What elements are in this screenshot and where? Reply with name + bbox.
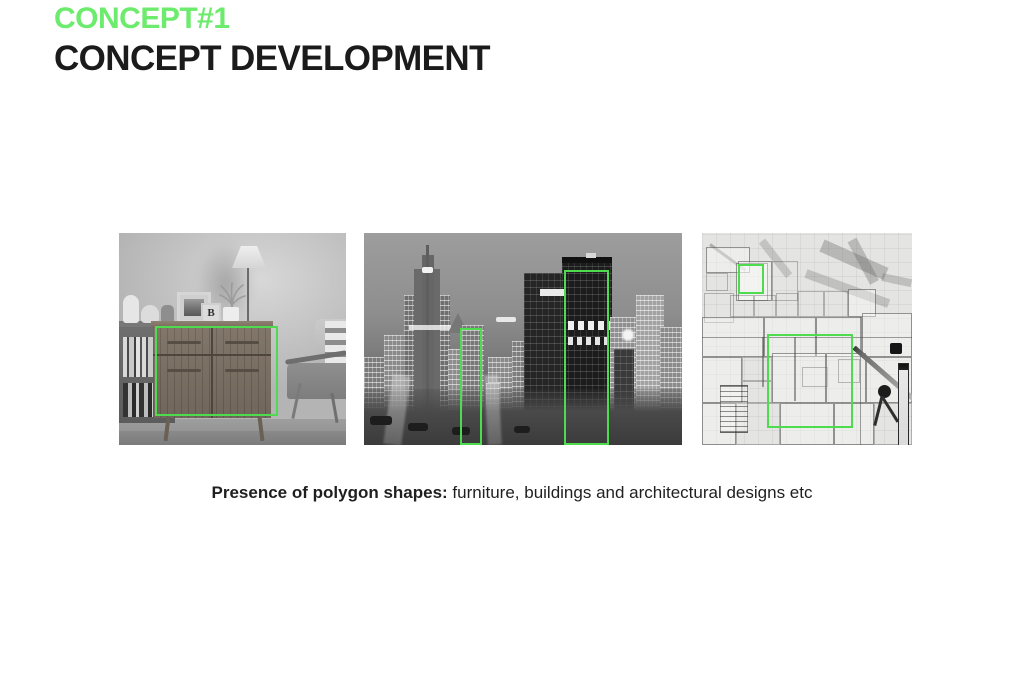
room-cell [754, 295, 776, 317]
page-eyebrow: CONCEPT#1 [54, 2, 490, 36]
room-cell [824, 291, 848, 317]
room-cell [798, 291, 824, 317]
rug [119, 431, 346, 445]
vehicle [408, 423, 428, 431]
plant-icon [217, 281, 247, 309]
partition-wall [794, 337, 796, 401]
room-cell [862, 313, 912, 357]
scale-ruler-icon [898, 363, 909, 445]
door-handle [225, 369, 259, 372]
caption-lead: Presence of polygon shapes: [212, 483, 448, 502]
partition-wall [762, 337, 764, 387]
lit-window-band [540, 289, 566, 296]
room-cell [706, 273, 728, 291]
room-cell [834, 403, 874, 445]
slide-root: CONCEPT#1 CONCEPT DEVELOPMENT B [0, 0, 1024, 684]
vase-tall [123, 295, 139, 323]
caption-rest: furniture, buildings and architectural d… [448, 483, 813, 502]
staircase [720, 385, 748, 433]
drawer-handle [167, 341, 201, 344]
armchair-cushion-stripes [325, 321, 346, 369]
dark-tower-antenna-light [586, 253, 596, 258]
eraser-icon [890, 343, 902, 354]
partition-wall [702, 337, 912, 338]
vehicle [514, 426, 530, 433]
room-cell [742, 357, 772, 381]
gallery-caption: Presence of polygon shapes: furniture, b… [0, 481, 1024, 505]
door-handle [167, 369, 201, 372]
room-cell [802, 367, 828, 387]
room-cell [730, 295, 754, 317]
vehicle [452, 427, 470, 435]
bright-spot-light [622, 329, 634, 341]
page-title: CONCEPT DEVELOPMENT [54, 38, 490, 80]
living-room-scene: B [119, 233, 346, 445]
drawer-handle [225, 341, 259, 344]
sideboard-divider [211, 326, 213, 418]
street-level [364, 389, 682, 445]
image-gallery: B [0, 233, 1024, 445]
gallery-image-city-skyline[interactable] [364, 233, 682, 445]
slide-header: CONCEPT#1 CONCEPT DEVELOPMENT [54, 2, 490, 80]
room-cell [776, 293, 798, 317]
gallery-image-living-room[interactable]: B [119, 233, 346, 445]
lit-window-band [568, 321, 610, 330]
partition-wall [860, 317, 861, 445]
rooftop-light [496, 317, 516, 322]
vehicle [370, 416, 392, 425]
city-skyline-scene [364, 233, 682, 445]
floor-plan-scene [702, 233, 912, 445]
lit-window-band [568, 337, 610, 345]
tower-light [422, 267, 433, 273]
room-cell [838, 359, 860, 383]
sideboard-rail [153, 354, 271, 356]
room-cell [780, 403, 834, 445]
tower-band-light [409, 325, 451, 330]
lamp-pole [247, 268, 249, 326]
gallery-image-floor-plan[interactable] [702, 233, 912, 445]
